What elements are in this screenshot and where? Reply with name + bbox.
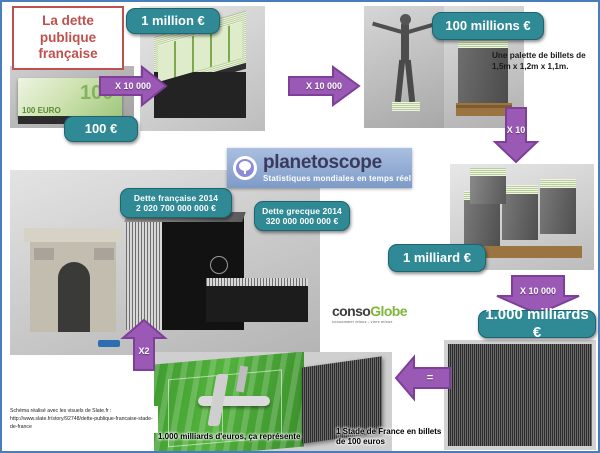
- callout-label: 100 millions €: [445, 18, 530, 33]
- planetoscope-name: planetoscope: [263, 153, 411, 172]
- arrow-label: X 10 000: [520, 286, 556, 296]
- callout-100-millions: 100 millions €: [432, 12, 544, 40]
- planetoscope-tagline: Statistiques mondiales en temps réel: [263, 174, 411, 183]
- arrow-label: X 10 000: [115, 81, 151, 91]
- callout-french-debt: Dette française 2014 2 020 700 000 000 €: [120, 188, 232, 218]
- arrow-x10: X 10: [492, 106, 540, 164]
- arrow-x2: X2: [120, 318, 168, 372]
- arrow-up-icon: [120, 318, 168, 372]
- planetoscope-banner[interactable]: planetoscope Statistiques mondiales en t…: [227, 148, 412, 188]
- arrow-label: X2: [138, 346, 149, 356]
- pallet-note: Une palette de billets de 1,5m x 1,2m x …: [492, 50, 600, 72]
- page-title: La dette publique française: [12, 6, 124, 70]
- infographic-canvas: 100 100 EURO X 10 000 X 10 000: [0, 0, 600, 453]
- callout-line-1: Dette française 2014: [134, 193, 218, 203]
- callout-line-2: 2 020 700 000 000 €: [136, 203, 216, 213]
- planetoscope-tree-icon: [233, 156, 257, 180]
- arrow-label: =: [427, 372, 433, 384]
- caption-stadium-right: 1 Stade de France en billets de 100 euro…: [336, 427, 446, 448]
- callout-label: 100 €: [85, 121, 118, 136]
- arrow-x10000-first: X 10 000: [98, 64, 168, 108]
- consoglobe-part1: conso: [332, 303, 370, 319]
- callout-100-euro: 100 €: [64, 116, 138, 142]
- callout-line-2: 320 000 000 000 €: [266, 216, 339, 226]
- caption-stadium-left: 1.000 milliards d'euros, ça représente: [158, 432, 328, 442]
- consoglobe-part2: Globe: [370, 303, 407, 319]
- callout-1-milliard: 1 milliard €: [388, 244, 486, 272]
- arrow-down-icon: [492, 106, 540, 164]
- arrow-label: X 10: [507, 125, 526, 135]
- callout-1000-milliards: 1.000 milliards €: [478, 310, 596, 338]
- callout-label: 1 million €: [141, 13, 205, 28]
- callout-label: 1 milliard €: [403, 250, 471, 265]
- consoglobe-tagline: consommer mieux - vivre mieux: [332, 320, 410, 324]
- photo-mesh-of-notes: [444, 340, 596, 450]
- tree-icon: [235, 158, 255, 178]
- callout-greek-debt: Dette grecque 2014 320 000 000 000 €: [254, 201, 350, 231]
- arrow-label: X 10 000: [306, 81, 342, 91]
- callout-label: 1.000 milliards €: [485, 306, 589, 341]
- callout-line-1: Dette grecque 2014: [262, 206, 342, 216]
- source-credit: Schéma réalisé avec les visuels de Slate…: [8, 406, 158, 433]
- consoglobe-logo[interactable]: conso Globe consommer mieux - vivre mieu…: [332, 300, 410, 326]
- arrow-x10000-second: X 10 000: [287, 64, 361, 108]
- arrow-left-icon: [394, 354, 452, 402]
- arrow-equals: =: [394, 354, 452, 402]
- callout-1-million: 1 million €: [126, 8, 220, 34]
